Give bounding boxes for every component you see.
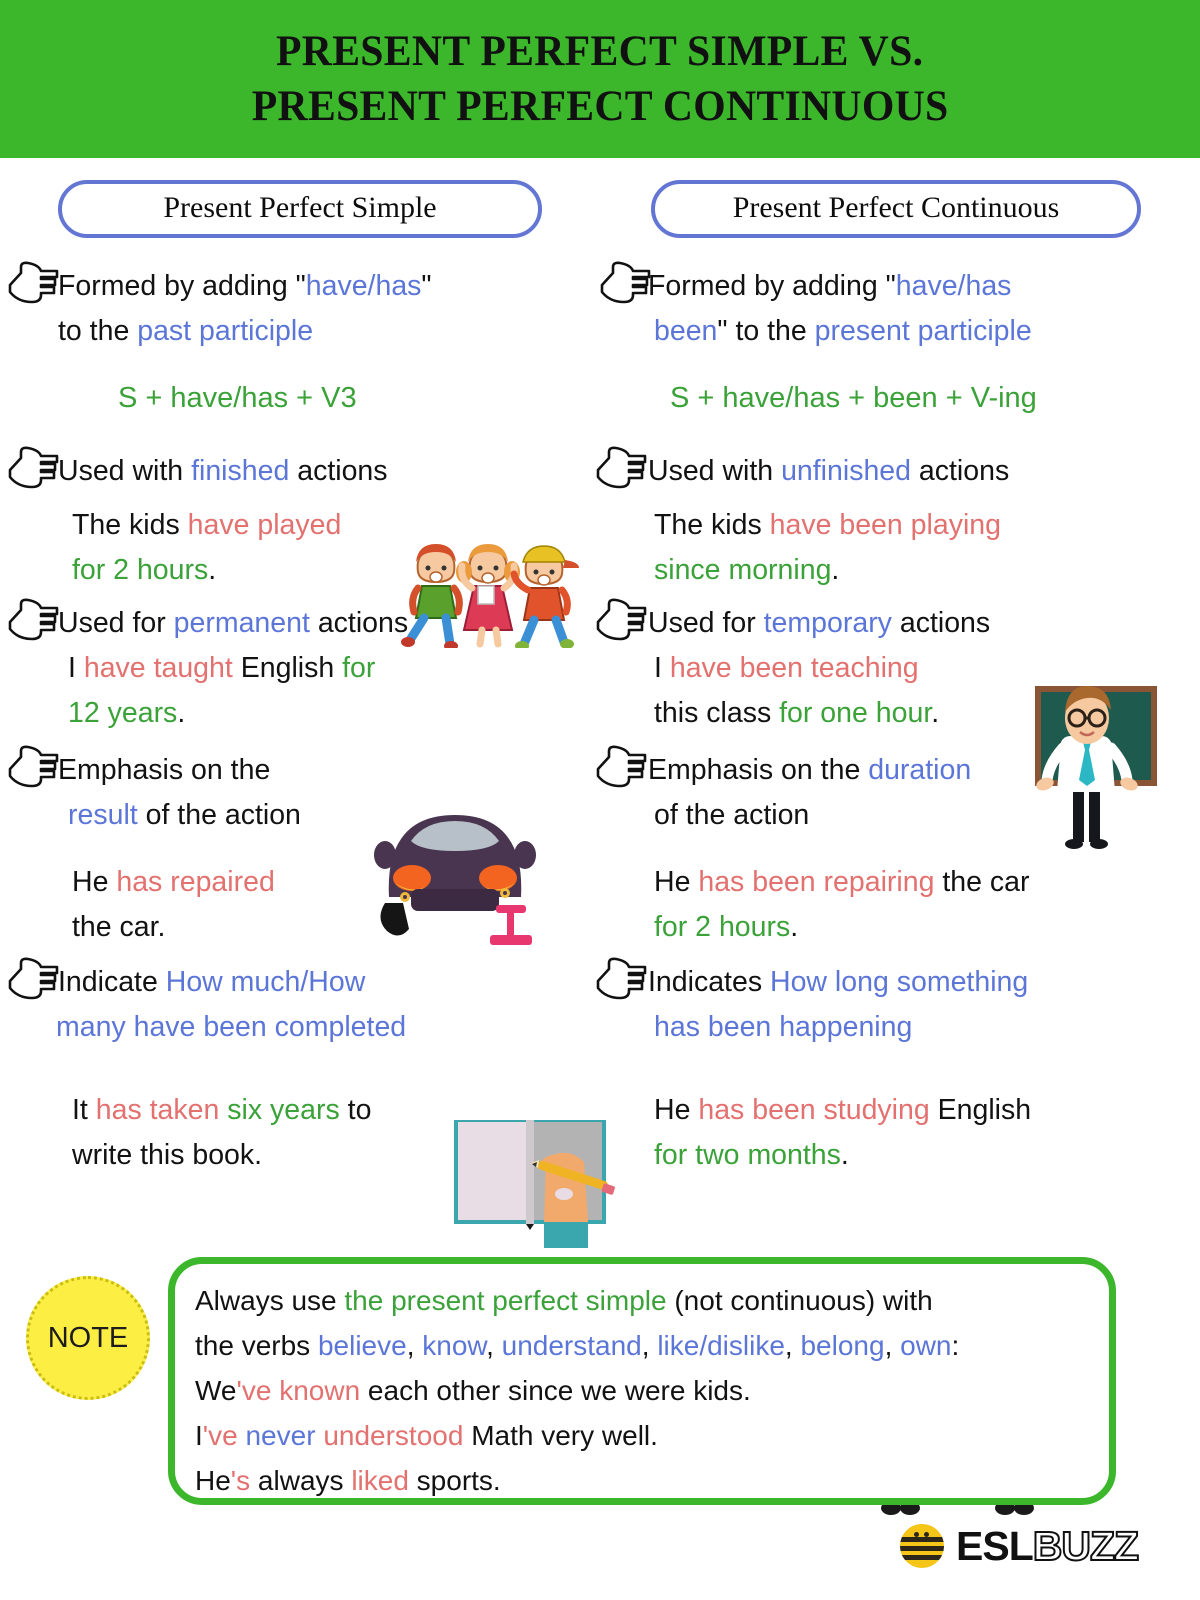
bullet-item: Formed by adding "have/has" [0, 264, 600, 309]
note-line: the verbs believe, know, understand, lik… [195, 1323, 1109, 1368]
note-section: NOTE Always use the present perfect simp… [0, 1243, 1200, 1523]
formula-left: S + have/has + V3 [0, 376, 600, 421]
example-line: for two months. [592, 1133, 1200, 1178]
note-line: He's always liked sports. [195, 1458, 1109, 1503]
car-illustration [355, 785, 555, 955]
pointing-hand-icon [8, 445, 60, 491]
note-box: Always use the present perfect simple (n… [168, 1257, 1116, 1505]
right-row-indicates: Indicates How long something has been ha… [592, 960, 1200, 1178]
bullet-item: Indicates How long something [592, 960, 1200, 1005]
left-column-title: Present Perfect Simple [58, 180, 542, 238]
note-line: We've known each other since we were kid… [195, 1368, 1109, 1413]
bullet-text: Formed by adding "have/has [648, 270, 1011, 302]
right-row-formation: Formed by adding "have/has been" to the … [592, 264, 1200, 421]
kids-playing-illustration [378, 528, 588, 648]
pointing-hand-icon [596, 744, 648, 790]
header-title-line-1: PRESENT PERFECT SIMPLE VS. [276, 24, 923, 79]
example-line: 12 years. [0, 691, 600, 736]
pointing-hand-icon [600, 260, 652, 306]
pointing-hand-icon [8, 597, 60, 643]
content-columns: Present Perfect Simple Formed by adding … [0, 158, 1200, 168]
header-title-line-2: PRESENT PERFECT CONTINUOUS [252, 79, 949, 134]
left-row-formation: Formed by adding "have/has" to the past … [0, 264, 600, 421]
bullet-text-line2: to the past participle [0, 309, 600, 354]
right-column: Present Perfect Continuous Formed by add… [592, 158, 1200, 1178]
bullet-text-line2: many have been completed [0, 1005, 600, 1050]
example-line: I have taught English for [0, 646, 600, 691]
logo-text: ESL BUZZ [956, 1526, 1138, 1567]
example-line: for 2 hours. [592, 905, 1200, 950]
right-row-unfinished: Used with unfinished actions The kids ha… [592, 449, 1200, 593]
bullet-text: Used for permanent actions [58, 607, 408, 639]
pointing-hand-icon [8, 744, 60, 790]
left-column: Present Perfect Simple Formed by adding … [0, 158, 600, 1178]
bullet-text: Indicates How long something [648, 966, 1028, 998]
page-header: PRESENT PERFECT SIMPLE VS. PRESENT PERFE… [0, 0, 1200, 158]
bullet-item: Used with unfinished actions [592, 449, 1200, 494]
bullet-item: Formed by adding "have/has [592, 264, 1200, 309]
pointing-hand-icon [8, 956, 60, 1002]
bullet-item: Used for temporary actions [592, 601, 1200, 646]
pointing-hand-icon [596, 597, 648, 643]
bullet-text-line2: has been happening [592, 1005, 1200, 1050]
bullet-text: Indicate How much/How [58, 966, 365, 998]
pointing-hand-icon [596, 956, 648, 1002]
teacher-illustration [995, 672, 1160, 852]
logo-esl: ESL [956, 1526, 1033, 1567]
bullet-text: Used with unfinished actions [648, 455, 1009, 487]
example-line: since morning. [592, 548, 1200, 593]
note-badge: NOTE [26, 1276, 150, 1400]
example-line: He has been repairing the car [592, 860, 1200, 905]
bullet-text-line2: been" to the present participle [592, 309, 1200, 354]
bullet-text: Emphasis on the [58, 754, 270, 786]
pointing-hand-icon [8, 260, 60, 306]
eslbuzz-logo[interactable]: ESL BUZZ [900, 1524, 1138, 1568]
bullet-text: Formed by adding "have/has" [58, 270, 432, 302]
example-line: He has been studying English [592, 1088, 1200, 1133]
book-illustration [440, 1098, 620, 1248]
note-line: Always use the present perfect simple (n… [195, 1278, 1109, 1323]
example-line: The kids have been playing [592, 503, 1200, 548]
bullet-item: Used with finished actions [0, 449, 600, 494]
bee-icon [900, 1524, 944, 1568]
right-column-title: Present Perfect Continuous [651, 180, 1141, 238]
formula-right: S + have/has + been + V-ing [592, 376, 1200, 421]
logo-buzz: BUZZ [1033, 1526, 1138, 1567]
pointing-hand-icon [596, 445, 648, 491]
bullet-text: Emphasis on the duration [648, 754, 971, 786]
bullet-text: Used for temporary actions [648, 607, 990, 639]
bullet-item: Indicate How much/How [0, 960, 600, 1005]
bullet-text: Used with finished actions [58, 455, 388, 487]
note-line: I've never understood Math very well. [195, 1413, 1109, 1458]
